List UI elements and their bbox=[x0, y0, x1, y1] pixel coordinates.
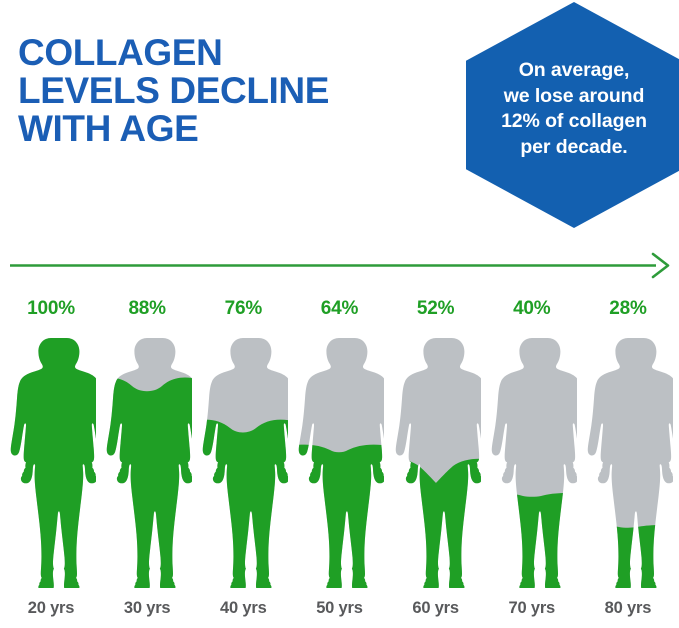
age-label: 70 yrs bbox=[509, 599, 556, 618]
figure-column-30yrs: 88% 30 yrs bbox=[102, 296, 192, 622]
figure-column-50yrs: 64% 50 yrs bbox=[294, 296, 384, 622]
age-label: 30 yrs bbox=[124, 599, 171, 618]
title-line-2: LEVELS DECLINE bbox=[18, 72, 448, 110]
body-silhouette-100 bbox=[6, 336, 96, 588]
body-silhouette-76 bbox=[198, 336, 288, 588]
percent-label: 52% bbox=[417, 296, 454, 322]
percent-label: 40% bbox=[513, 296, 550, 322]
title-line-3: WITH AGE bbox=[18, 110, 448, 148]
body-silhouette-52 bbox=[391, 336, 481, 588]
figure-column-70yrs: 40% 70 yrs bbox=[487, 296, 577, 622]
figure-column-40yrs: 76% 40 yrs bbox=[198, 296, 288, 622]
page-title: COLLAGEN LEVELS DECLINE WITH AGE bbox=[18, 34, 448, 148]
figure-column-80yrs: 28% 80 yrs bbox=[583, 296, 673, 622]
percent-label: 100% bbox=[27, 296, 75, 322]
percent-label: 28% bbox=[609, 296, 646, 322]
hexagon-shape bbox=[466, 2, 679, 228]
percent-label: 76% bbox=[225, 296, 262, 322]
title-line-1: COLLAGEN bbox=[18, 34, 448, 72]
age-label: 40 yrs bbox=[220, 599, 267, 618]
figures-row: 100% 20 yrs 88% bbox=[0, 296, 679, 622]
body-silhouette-64 bbox=[294, 336, 384, 588]
percent-label: 64% bbox=[321, 296, 358, 322]
percent-label: 88% bbox=[128, 296, 165, 322]
body-silhouette-28 bbox=[583, 336, 673, 588]
age-label: 60 yrs bbox=[412, 599, 459, 618]
collagen-infographic: COLLAGEN LEVELS DECLINE WITH AGE On aver… bbox=[0, 0, 679, 628]
figure-column-20yrs: 100% 20 yrs bbox=[6, 296, 96, 622]
statistic-badge: On average, we lose around 12% of collag… bbox=[466, 2, 679, 228]
body-silhouette-88 bbox=[102, 336, 192, 588]
age-label: 20 yrs bbox=[28, 599, 75, 618]
figure-column-60yrs: 52% 60 yrs bbox=[391, 296, 481, 622]
age-label: 50 yrs bbox=[316, 599, 363, 618]
body-silhouette-40 bbox=[487, 336, 577, 588]
age-label: 80 yrs bbox=[605, 599, 652, 618]
timeline-arrow-icon bbox=[8, 252, 672, 280]
